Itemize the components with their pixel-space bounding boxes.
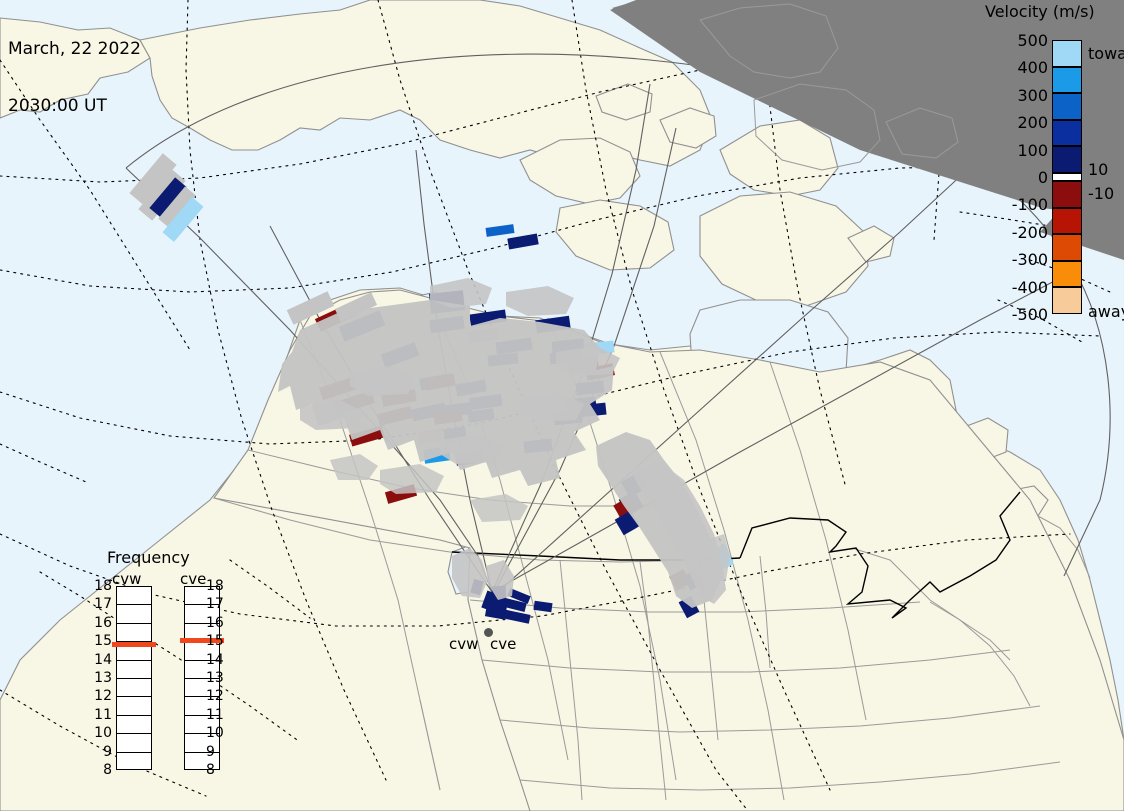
radar-cell xyxy=(523,439,552,454)
radar-cell xyxy=(423,446,451,463)
colorbar-toward-label: toward xyxy=(1088,44,1124,63)
colorbar-tick--400: -400 xyxy=(996,278,1048,297)
frequency-marker-cvw xyxy=(112,642,156,647)
frequency-tick-13: 13 xyxy=(206,670,228,686)
radar-cell xyxy=(712,544,734,570)
frequency-tick-16: 16 xyxy=(90,615,112,631)
colorbar-tick--200: -200 xyxy=(996,223,1048,242)
frequency-tick-15: 15 xyxy=(90,633,112,649)
frequency-tick-12: 12 xyxy=(206,688,228,704)
site-label-cve: cve xyxy=(490,635,516,653)
radar-cell xyxy=(467,328,498,344)
colorbar-tick--100: -100 xyxy=(996,195,1048,214)
colorbar-segment--300 xyxy=(1052,261,1082,288)
frequency-tick-16: 16 xyxy=(206,615,228,631)
site-label-cvw: cvw xyxy=(449,635,478,653)
frequency-tick-14: 14 xyxy=(206,652,228,668)
time-label: 2030:00 UT xyxy=(8,97,141,116)
frequency-tick-18: 18 xyxy=(90,578,112,594)
colorbar-segment--10 xyxy=(1052,181,1082,208)
radar-cell xyxy=(583,340,614,355)
frequency-tick-15: 15 xyxy=(206,633,228,649)
frequency-tick-8: 8 xyxy=(90,762,112,778)
radar-cell xyxy=(455,379,487,396)
radar-velocity-cells-layer xyxy=(0,0,1124,811)
radar-cell xyxy=(429,290,465,313)
colorbar-neg10-label: -10 xyxy=(1088,184,1114,203)
frequency-tick-17: 17 xyxy=(206,596,228,612)
frequency-tick-8: 8 xyxy=(206,762,228,778)
colorbar-pos10-label: 10 xyxy=(1088,160,1108,179)
frequency-tick-9: 9 xyxy=(90,744,112,760)
radar-cell xyxy=(443,427,467,444)
frequency-cell xyxy=(117,716,151,734)
frequency-legend-title: Frequency xyxy=(107,548,190,567)
colorbar-segment-200 xyxy=(1052,120,1082,147)
frequency-cell xyxy=(117,661,151,679)
frequency-cell xyxy=(117,624,151,642)
radar-cell xyxy=(488,352,519,366)
radar-cell xyxy=(381,389,417,407)
frequency-tick-10: 10 xyxy=(90,725,112,741)
frequency-bar-cvw[interactable] xyxy=(116,586,152,770)
radar-cell xyxy=(381,342,420,367)
frequency-cell xyxy=(117,679,151,697)
radar-cell xyxy=(533,601,552,612)
colorbar-tick-400: 400 xyxy=(996,58,1048,77)
frequency-tick-11: 11 xyxy=(90,707,112,723)
radar-cell xyxy=(417,428,442,443)
radar-cell xyxy=(385,484,417,504)
frequency-tick-9: 9 xyxy=(206,744,228,760)
colorbar-tick-300: 300 xyxy=(996,86,1048,105)
colorbar-segment-300 xyxy=(1052,93,1082,120)
velocity-colorbar[interactable] xyxy=(1052,40,1084,314)
radar-cell xyxy=(455,450,482,466)
frequency-tick-12: 12 xyxy=(90,688,112,704)
radar-cell xyxy=(507,233,538,249)
colorbar-segment--100 xyxy=(1052,208,1082,235)
radar-cell xyxy=(683,570,703,591)
colorbar-tick-200: 200 xyxy=(996,113,1048,132)
frequency-tick-11: 11 xyxy=(206,707,228,723)
colorbar-segment-100 xyxy=(1052,146,1082,173)
radar-cell xyxy=(433,410,462,425)
radar-cell xyxy=(577,403,606,418)
colorbar-tick-500: 500 xyxy=(996,31,1048,50)
colorbar-segment-400 xyxy=(1052,67,1082,94)
colorbar-tick-0: 0 xyxy=(996,168,1048,187)
radar-cell xyxy=(501,609,530,624)
radar-cell xyxy=(535,316,570,334)
colorbar-title: Velocity (m/s) xyxy=(985,2,1095,21)
colorbar-segment--200 xyxy=(1052,234,1082,261)
frequency-tick-17: 17 xyxy=(90,596,112,612)
radar-cell xyxy=(467,408,494,423)
radar-cell xyxy=(349,426,385,447)
frequency-tick-10: 10 xyxy=(206,725,228,741)
radar-cell xyxy=(679,596,700,618)
frequency-cell xyxy=(117,605,151,623)
colorbar-segment-500 xyxy=(1052,40,1082,67)
frequency-tick-18: 18 xyxy=(206,578,228,594)
colorbar-segment-10 xyxy=(1052,173,1082,181)
colorbar-tick--300: -300 xyxy=(996,250,1048,269)
frequency-cell xyxy=(117,753,151,771)
colorbar-tick--500: -500 xyxy=(996,305,1048,324)
frequency-cell xyxy=(117,697,151,715)
date-label: March, 22 2022 xyxy=(8,40,141,59)
radar-cell xyxy=(469,310,506,327)
frequency-tick-14: 14 xyxy=(90,652,112,668)
radar-cell xyxy=(470,579,483,595)
superdarn-map-view: March, 22 2022 2030:00 UT Velocity (m/s)… xyxy=(0,0,1124,811)
radar-cell xyxy=(469,394,502,410)
colorbar-away-label: away xyxy=(1088,302,1124,321)
frequency-cell xyxy=(117,734,151,752)
frequency-cell xyxy=(117,587,151,605)
frequency-tick-13: 13 xyxy=(90,670,112,686)
radar-cell xyxy=(429,316,464,334)
colorbar-tick-100: 100 xyxy=(996,141,1048,160)
radar-cell xyxy=(377,406,413,426)
timestamp-block: March, 22 2022 2030:00 UT xyxy=(8,2,141,154)
radar-cell xyxy=(486,224,515,237)
colorbar-segment--400 xyxy=(1052,287,1082,314)
radar-cell xyxy=(575,381,604,396)
